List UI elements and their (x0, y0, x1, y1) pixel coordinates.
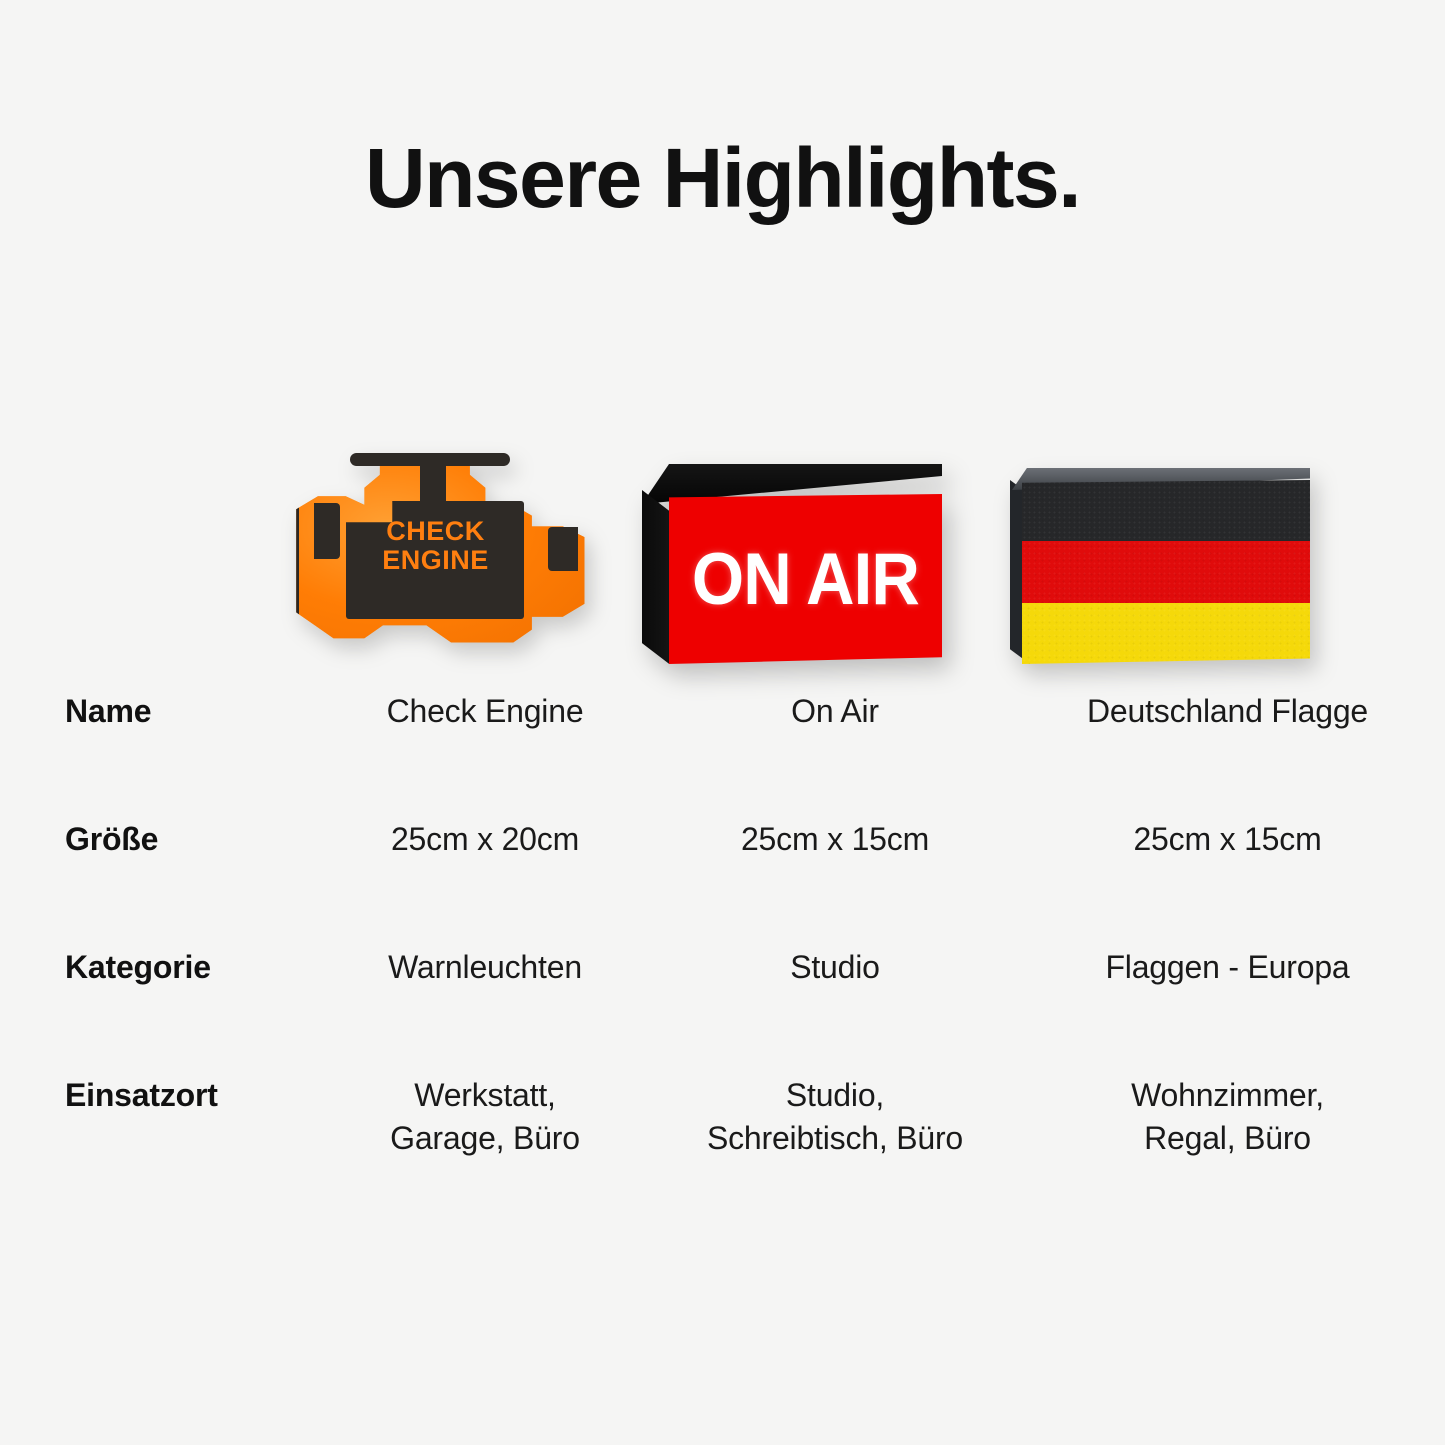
table-row-name: Name Check Engine On Air Deutschland Fla… (0, 690, 1445, 818)
check-engine-label-line2: ENGINE (348, 546, 523, 575)
row-label-name: Name (0, 690, 310, 732)
product-image-strip: CHECK ENGINE ON AIR (245, 404, 1445, 664)
flag-band-red (1022, 541, 1310, 602)
cell-name-check-engine: Check Engine (310, 690, 660, 733)
check-engine-lamp-icon: CHECK ENGINE (290, 449, 600, 664)
cell-groesse-deutschland-flagge: 25cm x 15cm (1010, 818, 1445, 861)
cell-name-deutschland-flagge: Deutschland Flagge (1010, 690, 1445, 733)
table-row-kategorie: Kategorie Warnleuchten Studio Flaggen - … (0, 946, 1445, 1074)
check-engine-label: CHECK ENGINE (348, 517, 523, 575)
spec-comparison-table: Name Check Engine On Air Deutschland Fla… (0, 690, 1445, 1224)
page-title: Unsere Highlights. (0, 132, 1445, 224)
cell-einsatzort-deutschland-flagge-line1: Wohnzimmer, (1010, 1074, 1445, 1117)
check-engine-label-line1: CHECK (348, 517, 523, 546)
flag-front-face (1022, 480, 1310, 664)
table-row-einsatzort: Einsatzort Werkstatt, Garage, Büro Studi… (0, 1074, 1445, 1224)
check-engine-right-notch (548, 527, 578, 571)
on-air-lightbox-icon: ON AIR (642, 464, 942, 664)
on-air-text: ON AIR (692, 543, 919, 616)
cell-einsatzort-check-engine-line1: Werkstatt, (310, 1074, 660, 1117)
cell-einsatzort-on-air-line2: Schreibtisch, Büro (660, 1117, 1010, 1160)
cell-name-on-air: On Air (660, 690, 1010, 733)
product-image-deutschland-flagge[interactable] (985, 404, 1335, 664)
flag-band-yellow (1022, 603, 1310, 664)
cell-kategorie-deutschland-flagge: Flaggen - Europa (1010, 946, 1445, 989)
german-flag-lightbox-icon (1010, 468, 1310, 664)
row-label-kategorie: Kategorie (0, 946, 310, 988)
highlights-comparison-page: Unsere Highlights. CHECK ENGINE (0, 0, 1445, 1445)
flag-band-black (1022, 480, 1310, 541)
cell-groesse-check-engine: 25cm x 20cm (310, 818, 660, 861)
check-engine-stem (420, 465, 446, 507)
cell-einsatzort-on-air: Studio, Schreibtisch, Büro (660, 1074, 1010, 1160)
cell-einsatzort-check-engine-line2: Garage, Büro (310, 1117, 660, 1160)
row-label-einsatzort: Einsatzort (0, 1074, 310, 1116)
cell-einsatzort-on-air-line1: Studio, (660, 1074, 1010, 1117)
product-image-check-engine[interactable]: CHECK ENGINE (245, 404, 645, 664)
cell-einsatzort-deutschland-flagge-line2: Regal, Büro (1010, 1117, 1445, 1160)
cell-kategorie-check-engine: Warnleuchten (310, 946, 660, 989)
cell-groesse-on-air: 25cm x 15cm (660, 818, 1010, 861)
table-row-groesse: Größe 25cm x 20cm 25cm x 15cm 25cm x 15c… (0, 818, 1445, 946)
cell-einsatzort-check-engine: Werkstatt, Garage, Büro (310, 1074, 660, 1160)
on-air-front-face: ON AIR (669, 494, 942, 664)
cell-kategorie-on-air: Studio (660, 946, 1010, 989)
row-label-groesse: Größe (0, 818, 310, 860)
check-engine-left-notch (314, 503, 340, 559)
cell-einsatzort-deutschland-flagge: Wohnzimmer, Regal, Büro (1010, 1074, 1445, 1160)
product-image-on-air[interactable]: ON AIR (617, 404, 967, 664)
